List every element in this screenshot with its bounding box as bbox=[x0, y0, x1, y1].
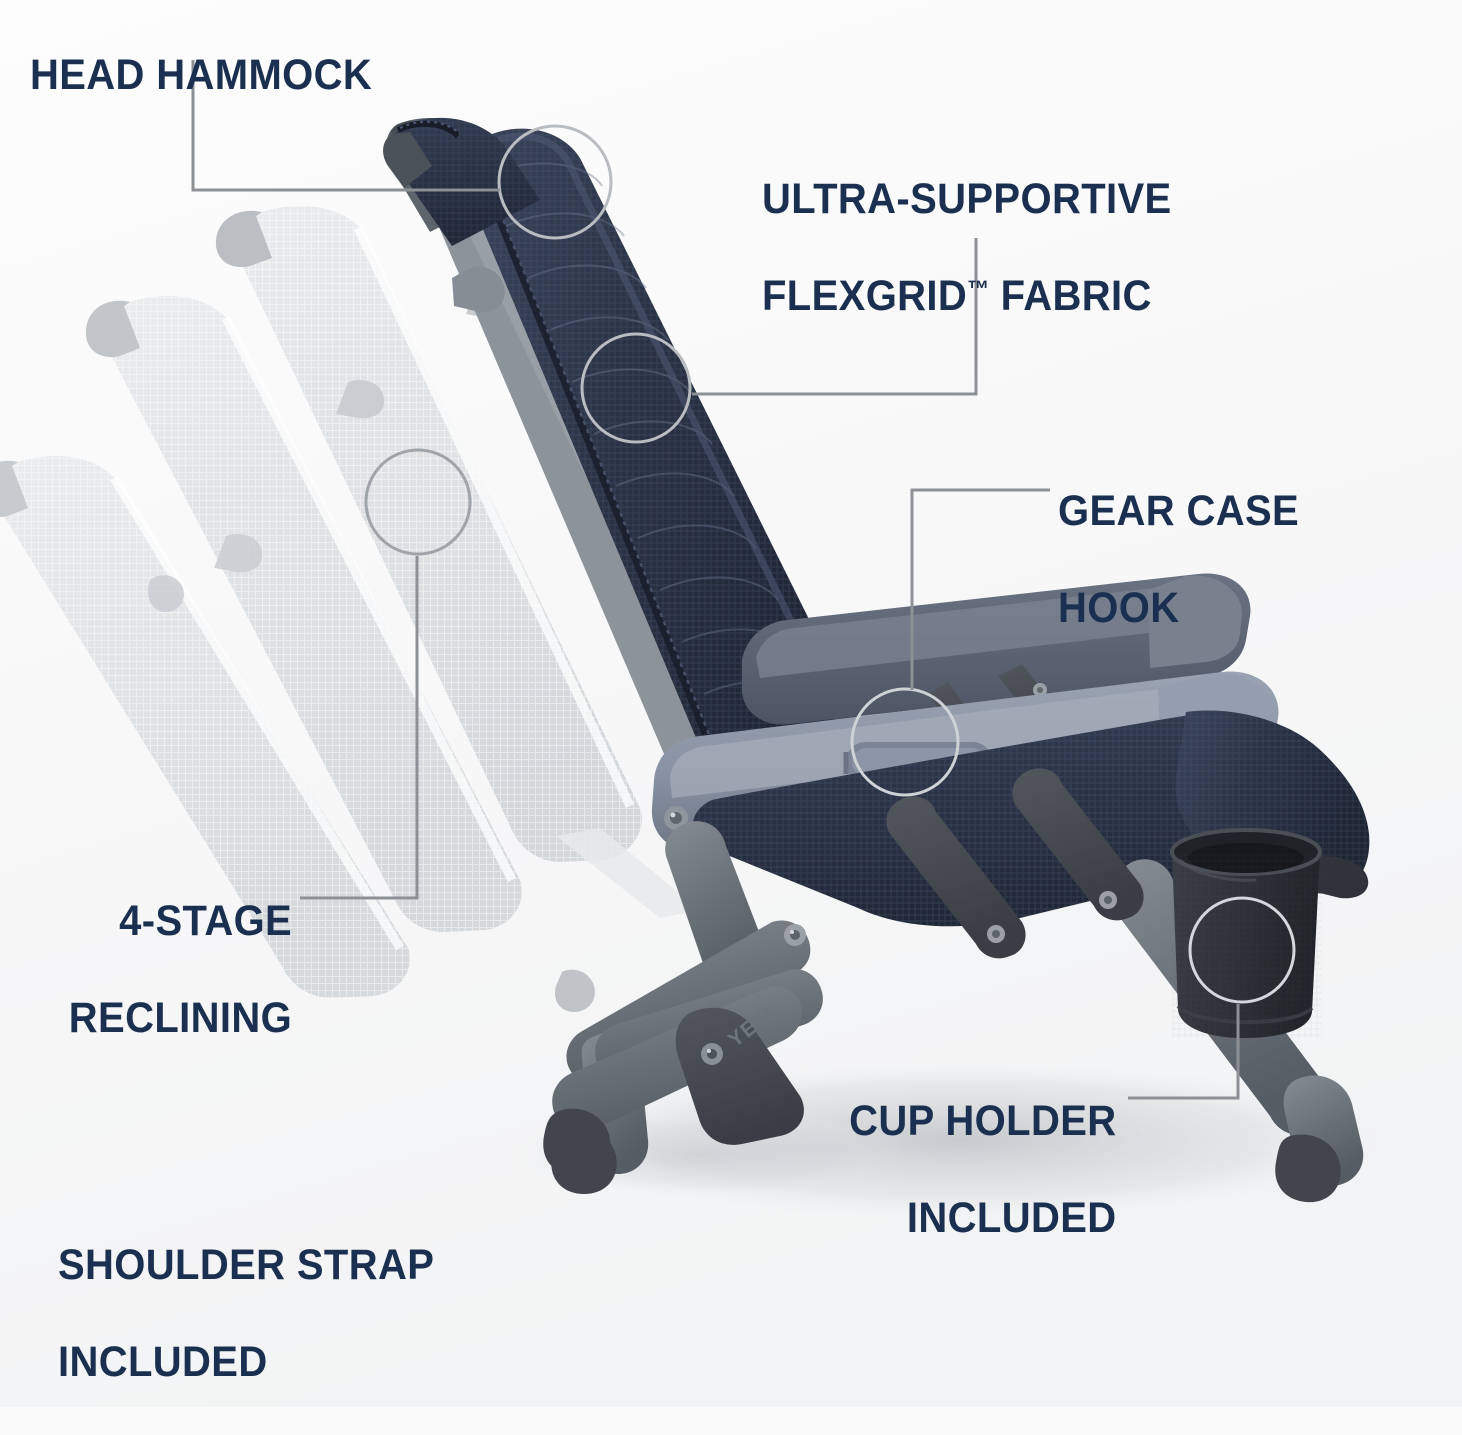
callout-reclining-line2: RECLINING bbox=[69, 994, 292, 1043]
callout-gear-case-hook: GEAR CASE HOOK bbox=[1058, 438, 1299, 681]
callout-cup-holder-included: CUP HOLDER INCLUDED bbox=[850, 1048, 1117, 1291]
callout-flexgrid-line2: FLEXGRID™ FABRIC bbox=[762, 272, 1172, 321]
callout-gear-case-hook-line2: HOOK bbox=[1058, 584, 1299, 633]
infographic-canvas: YETI bbox=[0, 0, 1462, 1407]
callout-reclining-line1: 4-STAGE bbox=[69, 897, 292, 946]
callout-head-hammock: HEAD HAMMOCK bbox=[30, 2, 372, 99]
callout-shoulder-strap-line2: INCLUDED bbox=[58, 1338, 434, 1387]
callout-shoulder-strap-included: SHOULDER STRAP INCLUDED bbox=[58, 1192, 434, 1435]
callout-flexgrid-line1: ULTRA-SUPPORTIVE bbox=[762, 175, 1172, 224]
trademark-symbol: ™ bbox=[967, 277, 989, 303]
callout-four-stage-reclining: 4-STAGE RECLINING bbox=[69, 848, 292, 1091]
callout-cup-holder-line2: INCLUDED bbox=[850, 1194, 1117, 1243]
callout-cup-holder-line1: CUP HOLDER bbox=[850, 1097, 1117, 1146]
callout-head-hammock-label: HEAD HAMMOCK bbox=[30, 51, 372, 99]
callout-shoulder-strap-line1: SHOULDER STRAP bbox=[58, 1241, 434, 1290]
callout-gear-case-hook-line1: GEAR CASE bbox=[1058, 487, 1299, 536]
callout-flexgrid-fabric: ULTRA-SUPPORTIVE FLEXGRID™ FABRIC bbox=[762, 126, 1172, 369]
cup-holder-part bbox=[1172, 830, 1322, 1038]
